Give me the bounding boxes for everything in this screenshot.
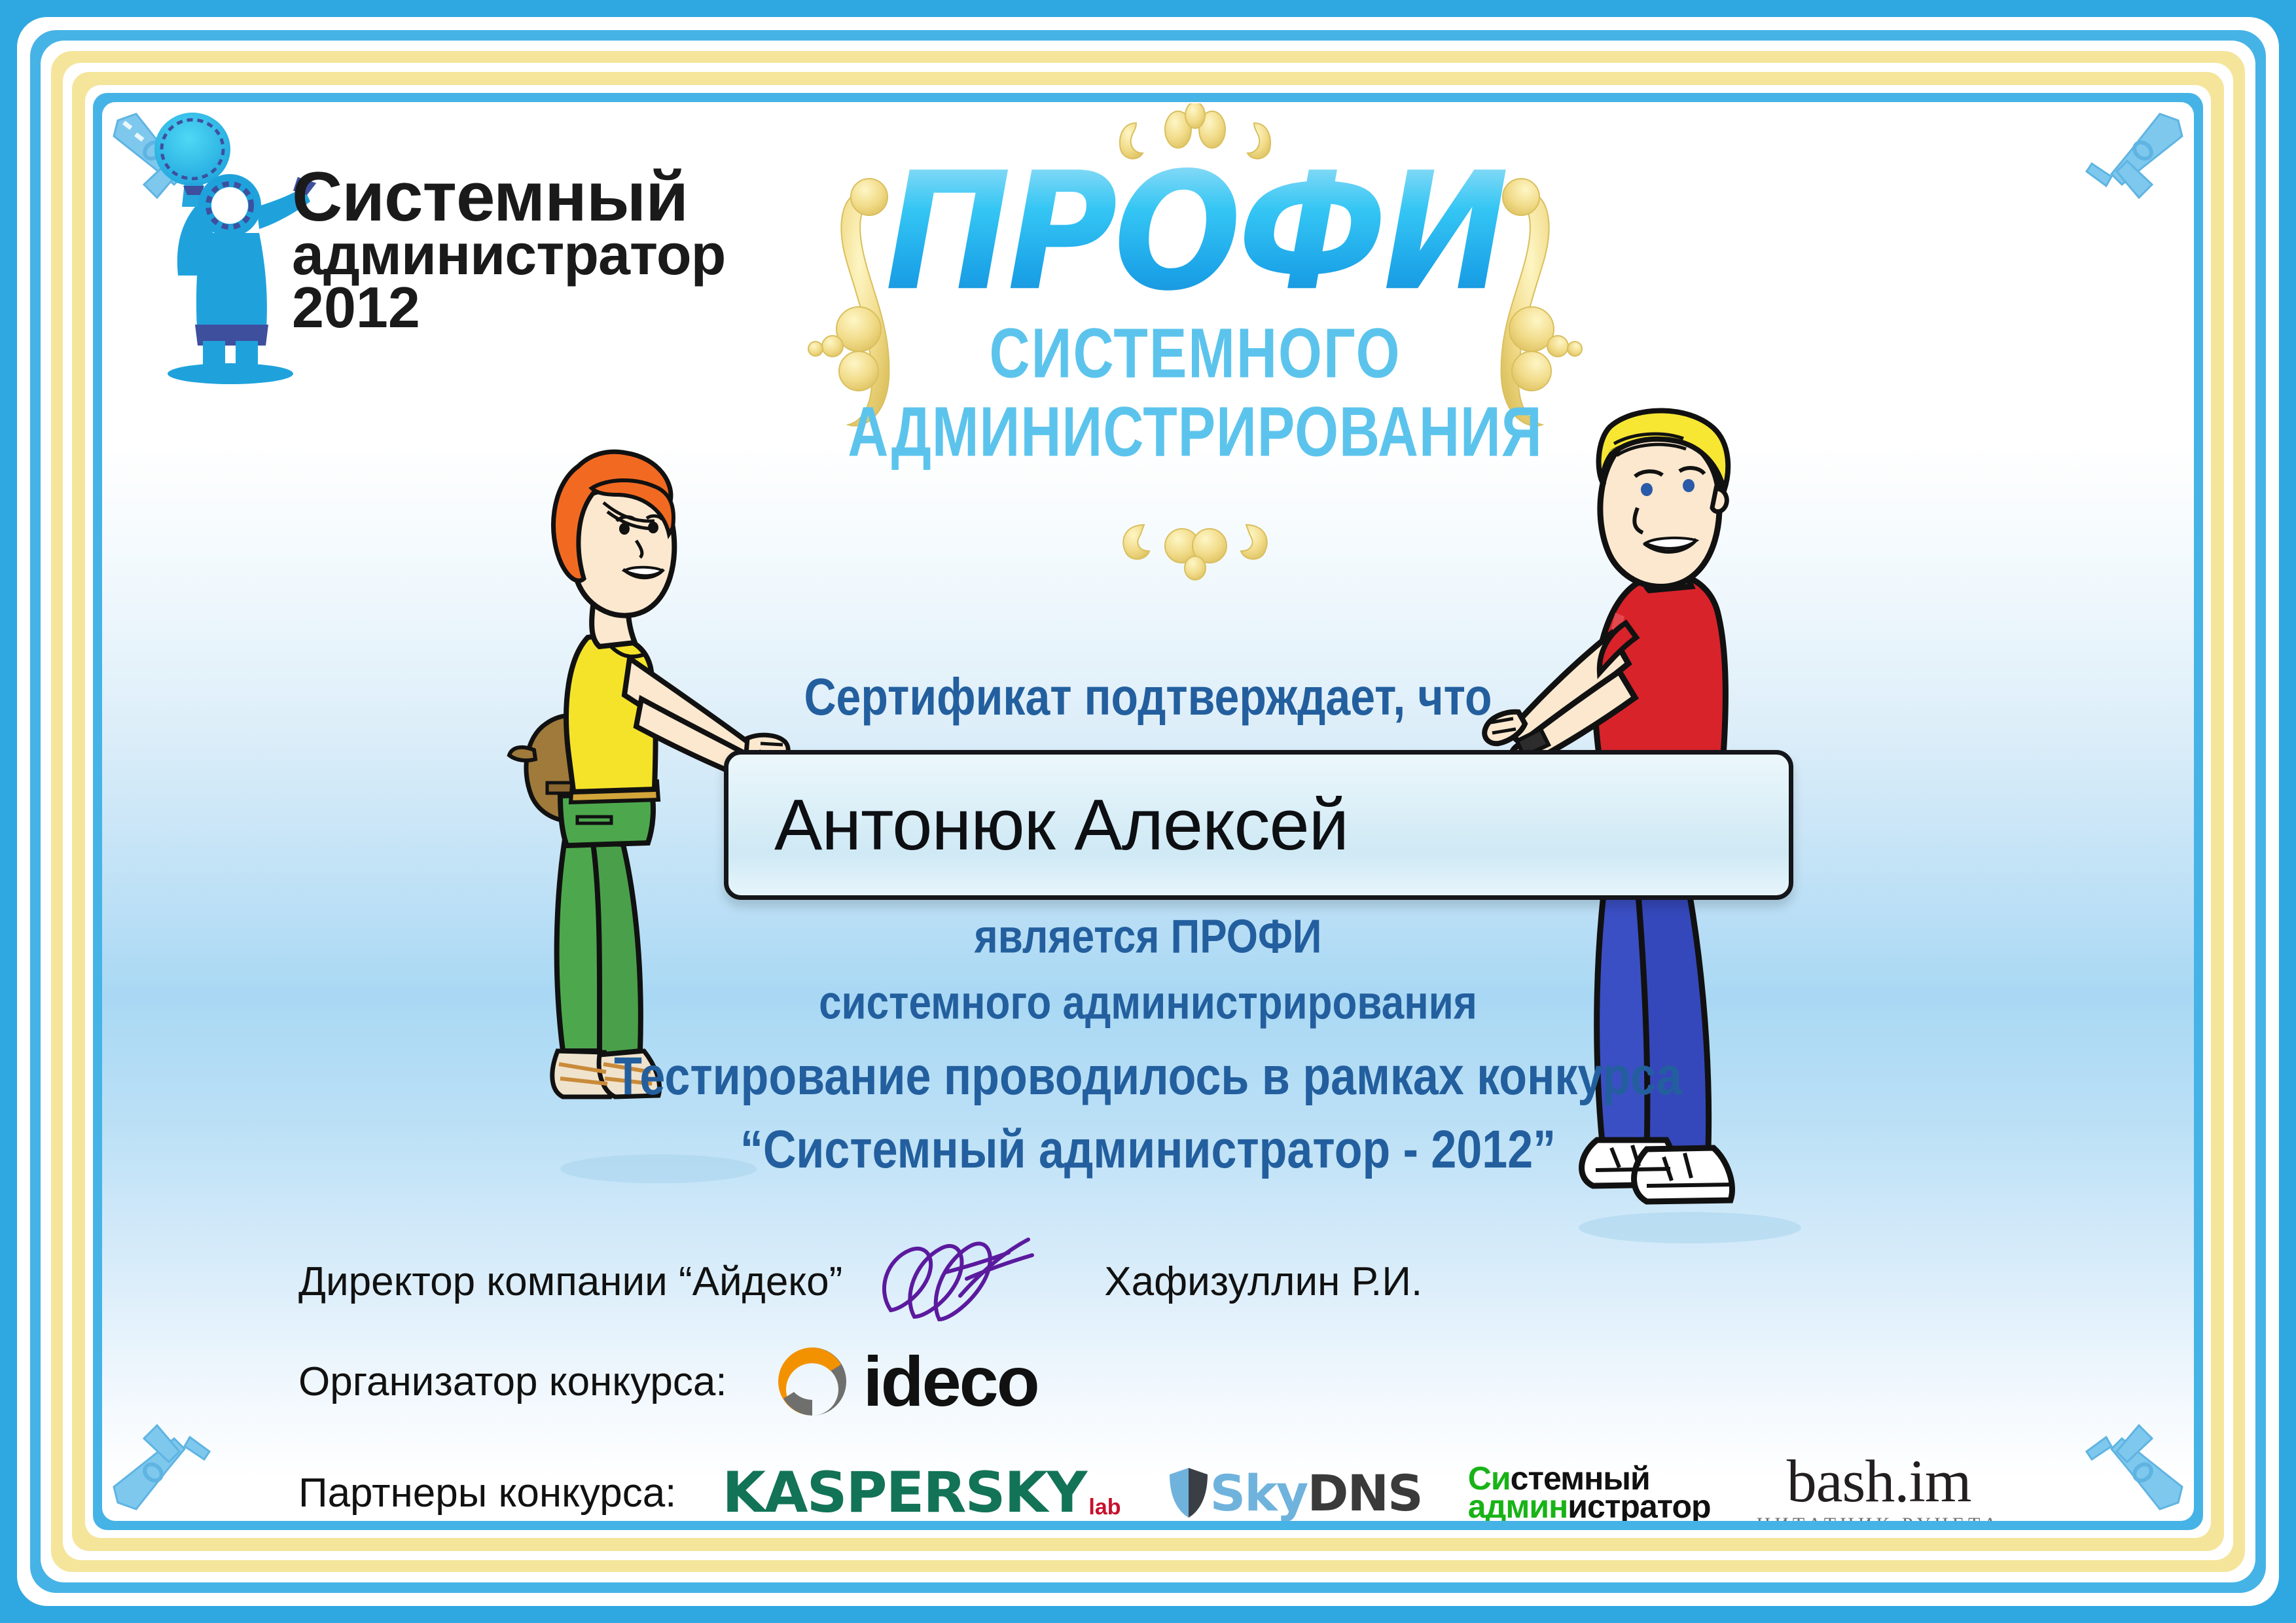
partners-label: Партнеры конкурса: <box>298 1470 676 1516</box>
bash-im-tagline: ЦИТАТНИК РУНЕТА <box>1757 1515 2001 1521</box>
signature-row: Директор компании “Айдеко” Хафизуллин Р.… <box>102 1234 2194 1329</box>
kaspersky-wordmark: KASPERSKY <box>722 1460 1086 1521</box>
certificate-body: является ПРОФИ системного администрирова… <box>102 914 2194 1175</box>
body-line-2: системного администрирования <box>102 976 2194 1029</box>
sysadmin-mag-logo: Системный администратор <box>1468 1465 1711 1521</box>
golden-ornament-icon <box>1097 514 1293 593</box>
ideco-logo: ideco <box>773 1342 1038 1421</box>
profi-logo-sub1: СИСТЕМНОГО <box>809 318 1581 389</box>
sysadmin-logo-line1: Системный <box>292 164 717 228</box>
sysadmin-logo-line3: 2012 <box>292 281 717 334</box>
profi-logo-sub2: АДМИНИСТРИРОВАНИЯ <box>809 397 1581 467</box>
certificate-page: Системный администратор 2012 <box>0 0 2296 1623</box>
handwritten-signature <box>869 1233 1065 1331</box>
sysadmin-logo-words: Системный администратор 2012 <box>292 164 717 334</box>
ideco-wordmark: ideco <box>863 1346 1038 1417</box>
body-line-1: является ПРОФИ <box>102 910 2194 963</box>
crimping-tool-icon <box>2053 106 2190 243</box>
partners-list: KASPERSKY lab Sky DNS Системный <box>722 1451 2001 1521</box>
kaspersky-lab-suffix: lab <box>1088 1495 1121 1520</box>
ideco-mark-icon <box>773 1342 852 1421</box>
recipient-name-box: Антонюк Алексей <box>724 750 1793 900</box>
organizer-row: Организатор конкурса: ideco <box>102 1329 2194 1434</box>
signature-label: Директор компании “Айдеко” <box>298 1258 842 1305</box>
profi-logo-main: ПРОФИ <box>809 152 1581 314</box>
skydns-part1: Sky <box>1210 1464 1308 1522</box>
organizer-label: Организатор конкурса: <box>298 1359 727 1405</box>
bash-im-wordmark: bash.im <box>1757 1451 2001 1511</box>
body-line-4: “Системный администратор - 2012” <box>102 1119 2194 1180</box>
skydns-part2: DNS <box>1307 1464 1422 1522</box>
confirm-line: Сертификат подтверждает, что <box>102 667 2194 727</box>
skydns-logo: Sky DNS <box>1167 1464 1422 1522</box>
shield-icon <box>1167 1467 1210 1519</box>
sysadmin-logo-line2: администратор <box>292 228 717 281</box>
partners-row: Партнеры конкурса: KASPERSKY lab Sky DNS <box>102 1434 2194 1521</box>
sysadmin-2012-logo: Системный администратор 2012 <box>128 109 717 449</box>
bash-im-logo: bash.im ЦИТАТНИК РУНЕТА <box>1757 1451 2001 1521</box>
sysadmin-mag-line2: администратор <box>1468 1493 1711 1521</box>
body-line-3: Тестирование проводилось в рамках конкур… <box>102 1046 2194 1107</box>
kaspersky-logo: KASPERSKY lab <box>722 1460 1121 1521</box>
profi-logo: ПРОФИ СИСТЕМНОГО АДМИНИСТРИРОВАНИЯ <box>809 122 1581 580</box>
sysadmin-mag-l2a: админ <box>1468 1488 1568 1521</box>
sysadmin-mag-l2b: истратор <box>1568 1488 1710 1521</box>
certificate-canvas: Системный администратор 2012 <box>102 102 2194 1521</box>
footer-rows: Директор компании “Айдеко” Хафизуллин Р.… <box>102 1234 2194 1521</box>
recipient-name: Антонюк Алексей <box>728 783 1348 866</box>
signer-name: Хафизуллин Р.И. <box>1104 1258 1422 1305</box>
